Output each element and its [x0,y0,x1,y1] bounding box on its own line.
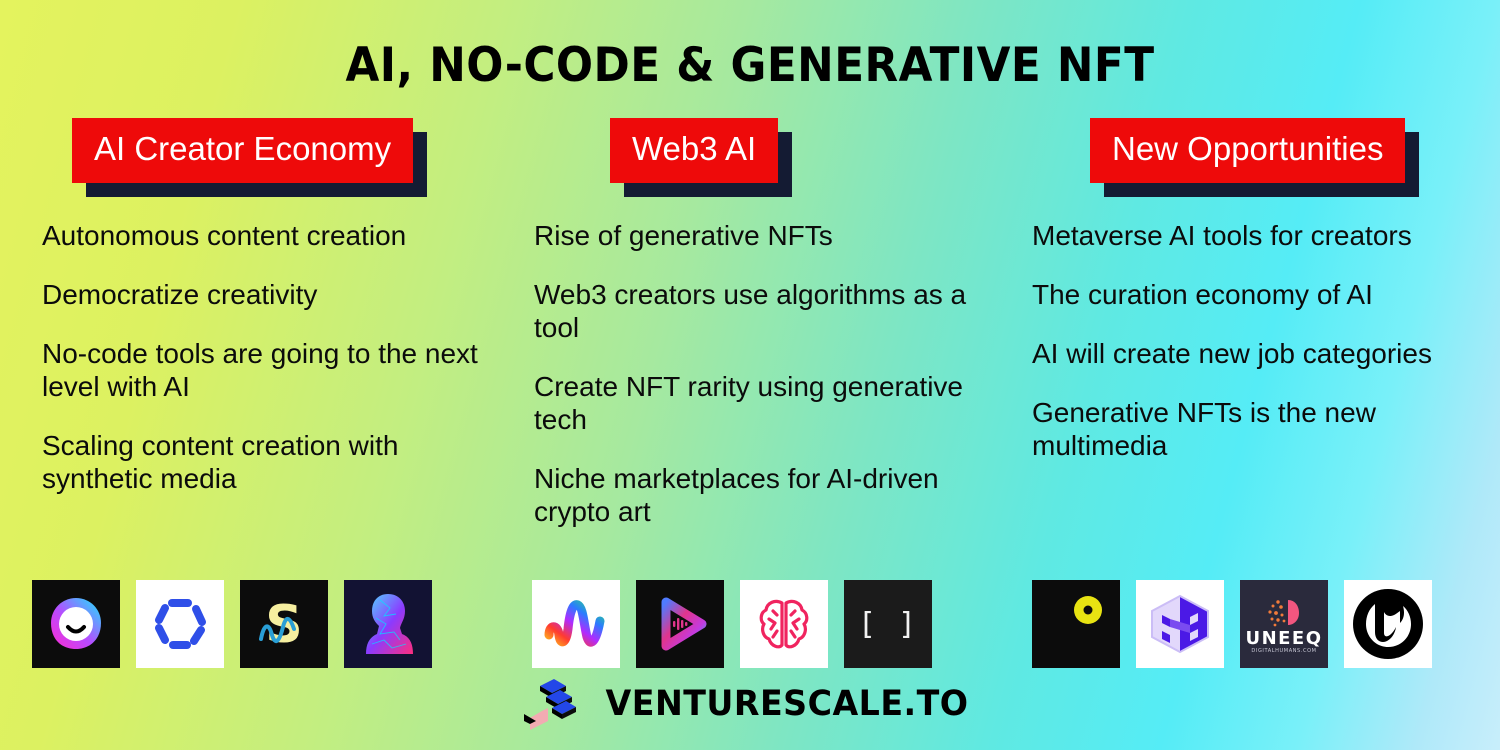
column-ai-creator-economy: AI Creator Economy Autonomous content cr… [30,118,500,521]
logo-strip-ai-creator-economy: S [32,580,432,668]
neon-bust-statue-icon[interactable] [344,580,432,668]
infographic-poster: AI, NO-CODE & GENERATIVE NFT AI Creator … [0,0,1500,750]
bullet-list: Metaverse AI tools for creators The cura… [1020,219,1490,462]
column-header-badge[interactable]: Web3 AI [610,118,778,183]
brand-footer: VENTURESCALE.TO [0,678,1500,730]
list-item: Democratize creativity [42,278,482,311]
brand-name: VENTURESCALE.TO [606,684,969,724]
bullet-list: Rise of generative NFTs Web3 creators us… [520,219,990,528]
list-item: The curation economy of AI [1032,278,1472,311]
letter-s-squiggle-icon[interactable]: S [240,580,328,668]
isometric-stairs-logo [522,678,578,730]
list-item: Autonomous content creation [42,219,482,252]
list-item: Create NFT rarity using generative tech [534,370,974,436]
column-header-badge-wrap: AI Creator Economy [72,118,413,183]
pink-brain-icon[interactable] [740,580,828,668]
bullet-list: Autonomous content creation Democratize … [30,219,500,495]
rainbow-waveform-icon[interactable] [532,580,620,668]
column-header-badge[interactable]: New Opportunities [1090,118,1405,183]
uneeq-tagline: DIGITALHUMANS.COM [1251,648,1316,654]
smiling-blob-icon[interactable] [32,580,120,668]
yellow-donut-icon[interactable] [1032,580,1120,668]
logo-strip-web3-ai: [ ] [532,580,932,668]
gradient-play-triangle-icon[interactable] [636,580,724,668]
uneeq-wordmark: UNEEQ [1245,628,1322,649]
column-web3-ai: Web3 AI Rise of generative NFTs Web3 cre… [520,118,990,554]
column-header-badge[interactable]: AI Creator Economy [72,118,413,183]
list-item: Rise of generative NFTs [534,219,974,252]
square-brackets-icon[interactable]: [ ] [844,580,932,668]
octagon-ring-icon[interactable] [136,580,224,668]
column-header-badge-wrap: Web3 AI [610,118,778,183]
unreal-engine-u-icon[interactable] [1344,580,1432,668]
list-item: Niche marketplaces for AI-driven crypto … [534,462,974,528]
list-item: Web3 creators use algorithms as a tool [534,278,974,344]
list-item: AI will create new job categories [1032,337,1472,370]
list-item: Scaling content creation with synthetic … [42,429,482,495]
list-item: Metaverse AI tools for creators [1032,219,1472,252]
square-brackets-glyph: [ ] [858,607,918,642]
logo-strip-new-opportunities: UNEEQ DIGITALHUMANS.COM [1032,580,1432,668]
uneeq-logo-icon[interactable]: UNEEQ DIGITALHUMANS.COM [1240,580,1328,668]
list-item: No-code tools are going to the next leve… [42,337,482,403]
column-new-opportunities: New Opportunities Metaverse AI tools for… [1020,118,1490,488]
purple-hex-cube-icon[interactable] [1136,580,1224,668]
column-header-badge-wrap: New Opportunities [1090,118,1405,183]
page-title: AI, NO-CODE & GENERATIVE NFT [53,38,1448,93]
list-item: Generative NFTs is the new multimedia [1032,396,1472,462]
